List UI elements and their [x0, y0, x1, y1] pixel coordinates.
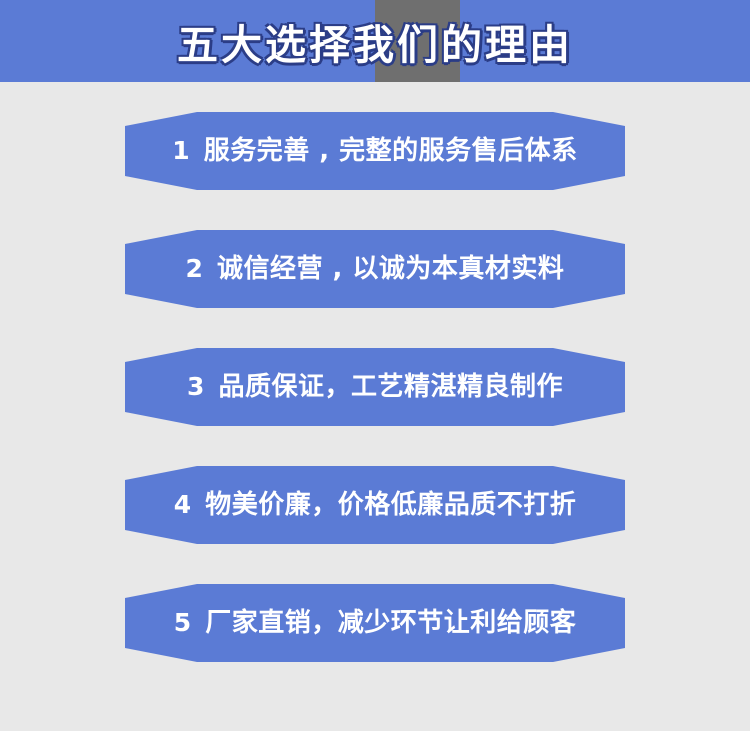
- reason-number-4: 4: [174, 492, 191, 517]
- promo-poster: 五大选择我们的理由 1 服务完善 , 完整的服务售后体系 2 诚信经营 , 以诚…: [0, 0, 750, 731]
- reason-text-1: 服务完善 , 完整的服务售后体系: [204, 138, 578, 164]
- reason-content-1: 1 服务完善 , 完整的服务售后体系: [172, 138, 577, 164]
- poster-header: 五大选择我们的理由: [0, 0, 750, 82]
- reason-content-4: 4 物美价廉，价格低廉品质不打折: [174, 492, 576, 518]
- list-item: 3 品质保证，工艺精湛精良制作: [125, 348, 625, 426]
- list-item: 2 诚信经营 , 以诚为本真材实料: [125, 230, 625, 308]
- reason-content-3: 3 品质保证，工艺精湛精良制作: [187, 374, 563, 400]
- reason-content-5: 5 厂家直销，减少环节让利给顾客: [174, 610, 576, 636]
- list-item: 4 物美价廉，价格低廉品质不打折: [125, 466, 625, 544]
- reason-text-2: 诚信经营 , 以诚为本真材实料: [217, 256, 564, 282]
- list-item: 1 服务完善 , 完整的服务售后体系: [125, 112, 625, 190]
- reason-text-5: 厂家直销，减少环节让利给顾客: [205, 610, 576, 636]
- reason-text-3: 品质保证，工艺精湛精良制作: [218, 374, 563, 400]
- reason-content-2: 2 诚信经营 , 以诚为本真材实料: [186, 256, 565, 282]
- page-title: 五大选择我们的理由: [0, 0, 750, 82]
- reason-number-3: 3: [187, 374, 204, 399]
- list-item: 5 厂家直销，减少环节让利给顾客: [125, 584, 625, 662]
- reason-text-4: 物美价廉，价格低廉品质不打折: [205, 492, 576, 518]
- reasons-list: 1 服务完善 , 完整的服务售后体系 2 诚信经营 , 以诚为本真材实料 3 品…: [0, 82, 750, 662]
- reason-number-1: 1: [172, 138, 189, 163]
- reason-number-2: 2: [186, 256, 203, 281]
- reason-number-5: 5: [174, 610, 191, 635]
